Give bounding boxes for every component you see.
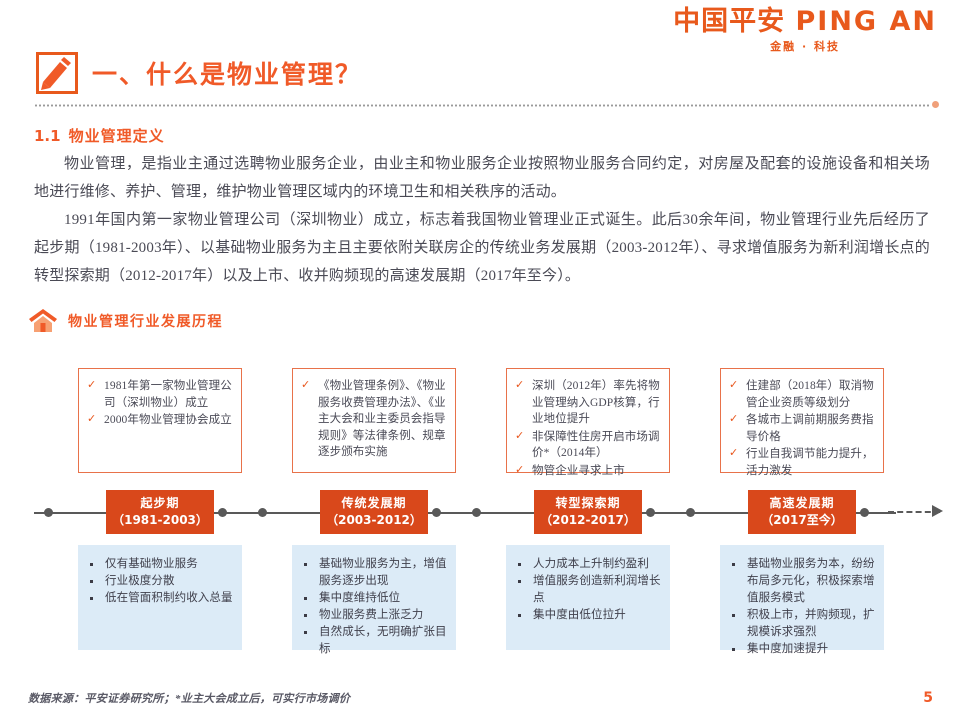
section-heading: 1.1物业管理定义 (34, 125, 165, 146)
timeline-axis-dot (432, 508, 441, 517)
feature-list: 基础物业服务为本，纷纷布局多元化，积极探索增值服务模式 积极上市，并购频现，扩规… (726, 556, 876, 658)
stage-name: 转型探索期 (555, 495, 620, 512)
feature-item: 人力成本上升制约盈利 (512, 556, 662, 573)
stage-badge[interactable]: 高速发展期 （2017至今） (748, 490, 856, 534)
feature-item: 积极上市，并购频现，扩规模诉求强烈 (726, 607, 876, 641)
fact-item: 行业自我调节能力提升，活力激发 (727, 446, 876, 479)
fact-item: 《物业管理条例》、《物业服务收费管理办法》、《业主大会和业主委员会指导规则》等法… (299, 378, 448, 461)
feature-item: 基础物业服务为主，增值服务逐步出现 (298, 556, 448, 590)
stage-years: （2017至今） (761, 512, 842, 529)
fact-item: 住建部（2018年）取消物管企业资质等级划分 (727, 378, 876, 411)
page-number: 5 (923, 690, 933, 706)
stage-badge[interactable]: 转型探索期 （2012-2017） (534, 490, 642, 534)
fact-item: 非保障性住房开启市场调价*（2014年） (513, 429, 662, 462)
stage-badge[interactable]: 起步期 （1981-2003） (106, 490, 214, 534)
logo-tagline: 金融 · 科技 (673, 41, 937, 52)
house-icon (28, 308, 58, 334)
feature-card: 仅有基础物业服务 行业极度分散 低在管面积制约收入总量 (78, 545, 242, 650)
feature-item: 低在管面积制约收入总量 (84, 590, 234, 607)
timeline-axis-arrow-icon (932, 505, 943, 517)
fact-item: 1981年第一家物业管理公司（深圳物业）成立 (85, 378, 234, 411)
fact-item: 深圳（2012年）率先将物业管理纳入GDP核算，行业地位提升 (513, 378, 662, 428)
timeline-diagram: 1981年第一家物业管理公司（深圳物业）成立 2000年物业管理协会成立 起步期… (0, 360, 959, 660)
timeline-axis-dot (218, 508, 227, 517)
fact-list: 1981年第一家物业管理公司（深圳物业）成立 2000年物业管理协会成立 (85, 378, 234, 429)
feature-item: 仅有基础物业服务 (84, 556, 234, 573)
feature-card: 人力成本上升制约盈利 增值服务创造新利润增长点 集中度由低位拉升 (506, 545, 670, 650)
feature-card: 基础物业服务为主，增值服务逐步出现 集中度维持低位 物业服务费上涨乏力 自然成长… (292, 545, 456, 650)
fact-card: 深圳（2012年）率先将物业管理纳入GDP核算，行业地位提升 非保障性住房开启市… (506, 368, 670, 473)
feature-list: 人力成本上升制约盈利 增值服务创造新利润增长点 集中度由低位拉升 (512, 556, 662, 624)
feature-item: 自然成长，无明确扩张目标 (298, 624, 448, 658)
fact-item: 物管企业寻求上市 (513, 463, 662, 480)
stage-years: （2012-2017） (540, 512, 636, 529)
feature-list: 基础物业服务为主，增值服务逐步出现 集中度维持低位 物业服务费上涨乏力 自然成长… (298, 556, 448, 658)
stage-name: 传统发展期 (341, 495, 406, 512)
feature-list: 仅有基础物业服务 行业极度分散 低在管面积制约收入总量 (84, 556, 234, 607)
timeline-axis-dot (860, 508, 869, 517)
timeline-axis-dot (472, 508, 481, 517)
fact-list: 住建部（2018年）取消物管企业资质等级划分 各城市上调前期服务费指导价格 行业… (727, 378, 876, 479)
feature-item: 基础物业服务为本，纷纷布局多元化，积极探索增值服务模式 (726, 556, 876, 607)
stage-years: （2003-2012） (326, 512, 422, 529)
source-note: 数据来源：平安证券研究所；*业主大会成立后，可实行市场调价 (28, 690, 350, 706)
slide-title-row: 一、什么是物业管理？ (36, 52, 362, 94)
fact-card: 1981年第一家物业管理公司（深圳物业）成立 2000年物业管理协会成立 (78, 368, 242, 473)
section-number: 1.1 (34, 127, 61, 145)
logo-wordmark: 中国平安 PING AN (673, 8, 937, 35)
timeline-axis-dot (44, 508, 53, 517)
history-paragraph: 1991年国内第一家物业管理公司（深圳物业）成立，标志着我国物业管理业正式诞生。… (34, 206, 930, 290)
fact-list: 深圳（2012年）率先将物业管理纳入GDP核算，行业地位提升 非保障性住房开启市… (513, 378, 662, 479)
stage-name: 起步期 (140, 495, 179, 512)
chart-heading-label: 物业管理行业发展历程 (68, 311, 223, 331)
stage-years: （1981-2003） (112, 512, 208, 529)
timeline-axis-dot (646, 508, 655, 517)
fact-list: 《物业管理条例》、《物业服务收费管理办法》、《业主大会和业主委员会指导规则》等法… (299, 378, 448, 461)
note-pencil-icon (36, 52, 78, 94)
feature-item: 增值服务创造新利润增长点 (512, 573, 662, 607)
feature-item: 集中度由低位拉升 (512, 607, 662, 624)
title-divider-end-dot (932, 101, 939, 108)
section-heading-label: 物业管理定义 (69, 127, 165, 145)
feature-card: 基础物业服务为本，纷纷布局多元化，积极探索增值服务模式 积极上市，并购频现，扩规… (720, 545, 884, 650)
fact-card: 《物业管理条例》、《物业服务收费管理办法》、《业主大会和业主委员会指导规则》等法… (292, 368, 456, 473)
chart-heading: 物业管理行业发展历程 (28, 308, 223, 334)
fact-item: 2000年物业管理协会成立 (85, 412, 234, 429)
logo-cn-text: 中国平安 (673, 6, 785, 37)
definition-paragraph: 物业管理，是指业主通过选聘物业服务企业，由业主和物业服务企业按照物业服务合同约定… (34, 150, 930, 206)
feature-item: 集中度加速提升 (726, 641, 876, 658)
pingan-logo: 中国平安 PING AN 金融 · 科技 (673, 8, 937, 52)
timeline-axis-dot (686, 508, 695, 517)
fact-item: 各城市上调前期服务费指导价格 (727, 412, 876, 445)
title-divider (34, 104, 930, 107)
feature-item: 行业极度分散 (84, 573, 234, 590)
feature-item: 物业服务费上涨乏力 (298, 607, 448, 624)
logo-en-text: PING AN (796, 6, 938, 37)
stage-badge[interactable]: 传统发展期 （2003-2012） (320, 490, 428, 534)
timeline-axis-dot (258, 508, 267, 517)
stage-name: 高速发展期 (769, 495, 834, 512)
page-title: 一、什么是物业管理？ (92, 55, 362, 91)
feature-item: 集中度维持低位 (298, 590, 448, 607)
fact-card: 住建部（2018年）取消物管企业资质等级划分 各城市上调前期服务费指导价格 行业… (720, 368, 884, 473)
